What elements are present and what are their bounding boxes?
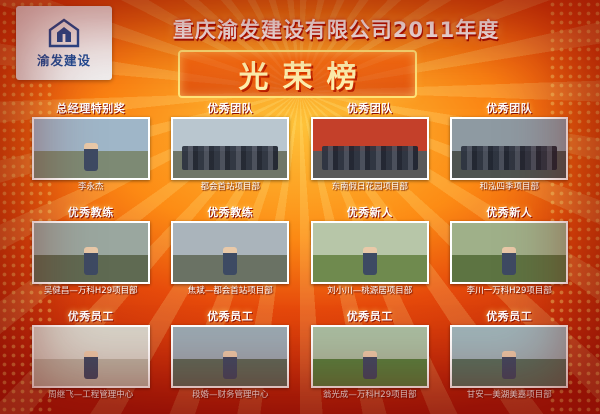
honoree-grid: 总经理特别奖李永杰优秀团队都会首站项目部优秀团队东南假日花园项目部优秀团队和泓四… (26, 102, 574, 410)
honoree-card: 优秀团队和泓四季项目部 (445, 102, 575, 202)
honoree-caption: 吴健昌—万科H29项目部 (44, 286, 138, 297)
award-title: 优秀教练 (68, 206, 114, 219)
photo-person-figure (84, 143, 98, 171)
banner-char-1: 光 (239, 52, 269, 96)
honoree-caption: 甘安—美湖美嘉项目部 (467, 390, 552, 401)
honoree-card: 优秀员工段婚—财务管理中心 (166, 310, 296, 410)
award-title: 优秀团队 (486, 102, 532, 115)
banner-char-3: 榜 (327, 52, 357, 96)
honoree-caption: 李永杰 (78, 182, 104, 193)
photo-person-figure (502, 247, 516, 275)
honoree-card: 优秀员工翁光成—万科H29项目部 (305, 310, 435, 410)
photo-person-figure (223, 247, 237, 275)
photo-person-figure (363, 247, 377, 275)
honoree-card: 优秀员工甘安—美湖美嘉项目部 (445, 310, 575, 410)
honoree-photo (171, 117, 289, 180)
banner-char-2: 荣 (283, 52, 313, 96)
company-logo-text: 渝发建设 (37, 50, 91, 69)
honoree-caption: 焦斌—都会首站项目部 (188, 286, 273, 297)
award-title: 优秀团队 (207, 102, 253, 115)
award-title: 优秀教练 (207, 206, 253, 219)
honoree-card: 优秀团队都会首站项目部 (166, 102, 296, 202)
honoree-caption: 东南假日花园项目部 (331, 182, 408, 193)
honoree-card: 优秀团队东南假日花园项目部 (305, 102, 435, 202)
house-logo-icon (47, 18, 81, 48)
honoree-card: 优秀教练吴健昌—万科H29项目部 (26, 206, 156, 306)
photo-person-figure (502, 351, 516, 379)
honoree-photo (311, 117, 429, 180)
honoree-photo (32, 117, 150, 180)
honoree-caption: 李川一万科H29项目部 (467, 286, 552, 297)
photo-person-figure (223, 351, 237, 379)
honoree-photo (311, 221, 429, 284)
photo-group-figures (322, 146, 418, 170)
poster-root: 渝发建设 重庆渝发建设有限公司2011年度 光 荣 榜 总经理特别奖李永杰优秀团… (0, 0, 600, 414)
award-title: 优秀员工 (68, 310, 114, 323)
award-title: 总经理特别奖 (56, 102, 125, 115)
photo-person-figure (363, 351, 377, 379)
honoree-card: 总经理特别奖李永杰 (26, 102, 156, 202)
honoree-card: 优秀员工周继飞—工程管理中心 (26, 310, 156, 410)
photo-group-figures (461, 146, 557, 170)
honoree-photo (32, 221, 150, 284)
honoree-caption: 段婚—财务管理中心 (192, 390, 269, 401)
honoree-photo (171, 325, 289, 388)
honoree-caption: 都会首站项目部 (200, 182, 260, 193)
honoree-caption: 翁光成—万科H29项目部 (323, 390, 417, 401)
award-title: 优秀员工 (207, 310, 253, 323)
award-title: 优秀员工 (347, 310, 393, 323)
honoree-photo (311, 325, 429, 388)
honoree-caption: 周继飞—工程管理中心 (48, 390, 133, 401)
photo-person-figure (84, 247, 98, 275)
award-title: 优秀新人 (486, 206, 532, 219)
honoree-photo (171, 221, 289, 284)
honoree-photo (450, 221, 568, 284)
award-title: 优秀员工 (486, 310, 532, 323)
honor-roll-banner: 光 荣 榜 (178, 50, 417, 98)
honoree-caption: 刘小川—桃源居项目部 (327, 286, 412, 297)
page-title: 重庆渝发建设有限公司2011年度 (96, 14, 576, 44)
honoree-photo (450, 117, 568, 180)
honoree-photo (450, 325, 568, 388)
honoree-card: 优秀新人李川一万科H29项目部 (445, 206, 575, 306)
award-title: 优秀新人 (347, 206, 393, 219)
honoree-card: 优秀新人刘小川—桃源居项目部 (305, 206, 435, 306)
award-title: 优秀团队 (347, 102, 393, 115)
honoree-card: 优秀教练焦斌—都会首站项目部 (166, 206, 296, 306)
honoree-caption: 和泓四季项目部 (479, 182, 539, 193)
honoree-photo (32, 325, 150, 388)
photo-person-figure (84, 351, 98, 379)
photo-group-figures (182, 146, 278, 170)
